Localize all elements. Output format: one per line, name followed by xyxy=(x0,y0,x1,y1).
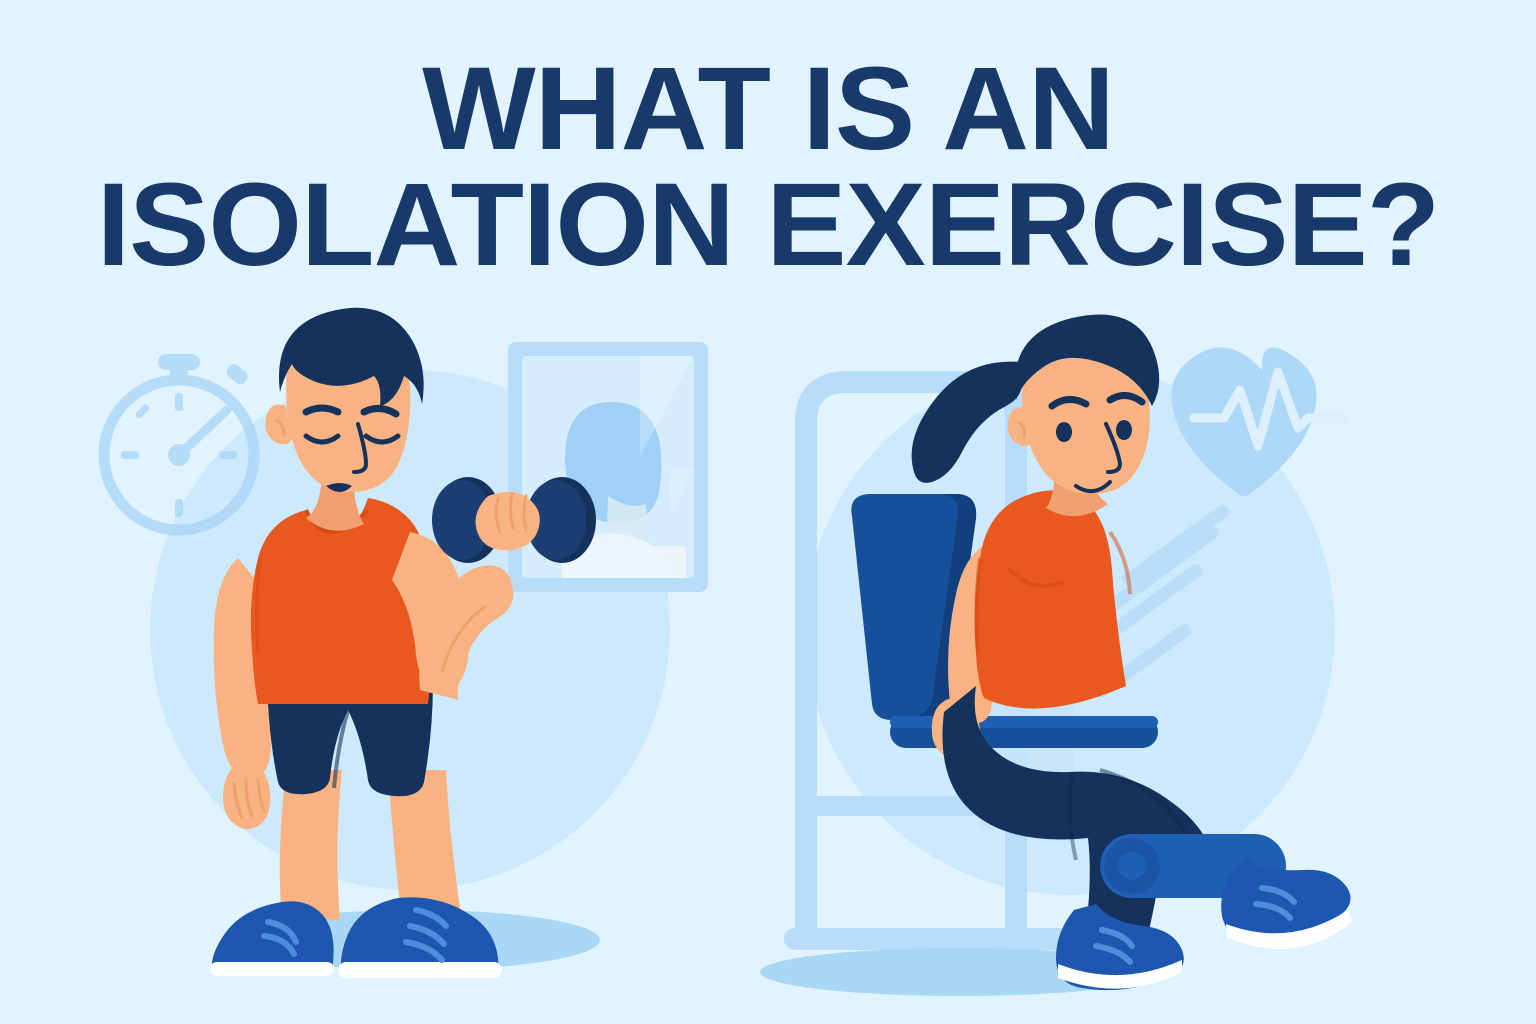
man-right-hand xyxy=(476,492,540,550)
infographic-canvas: WHAT IS AN ISOLATION EXERCISE? xyxy=(0,0,1536,1024)
wall-mirror xyxy=(508,342,708,592)
woman-leg-extension-scene xyxy=(770,300,1430,1000)
page-title: WHAT IS AN ISOLATION EXERCISE? xyxy=(0,52,1536,283)
title-full-text: WHAT IS AN ISOLATION EXERCISE? xyxy=(0,0,1,1)
man-eyebrow-left xyxy=(306,408,338,412)
woman-eye-left xyxy=(1056,422,1072,442)
title-line-1: WHAT IS AN xyxy=(0,52,1536,168)
machine-seat xyxy=(890,716,1158,748)
man-dumbbell-curl-scene xyxy=(110,300,760,1000)
woman-eye-right xyxy=(1116,420,1132,440)
title-line-2: ISOLATION EXERCISE? xyxy=(0,168,1536,284)
man-shoes xyxy=(210,897,502,978)
